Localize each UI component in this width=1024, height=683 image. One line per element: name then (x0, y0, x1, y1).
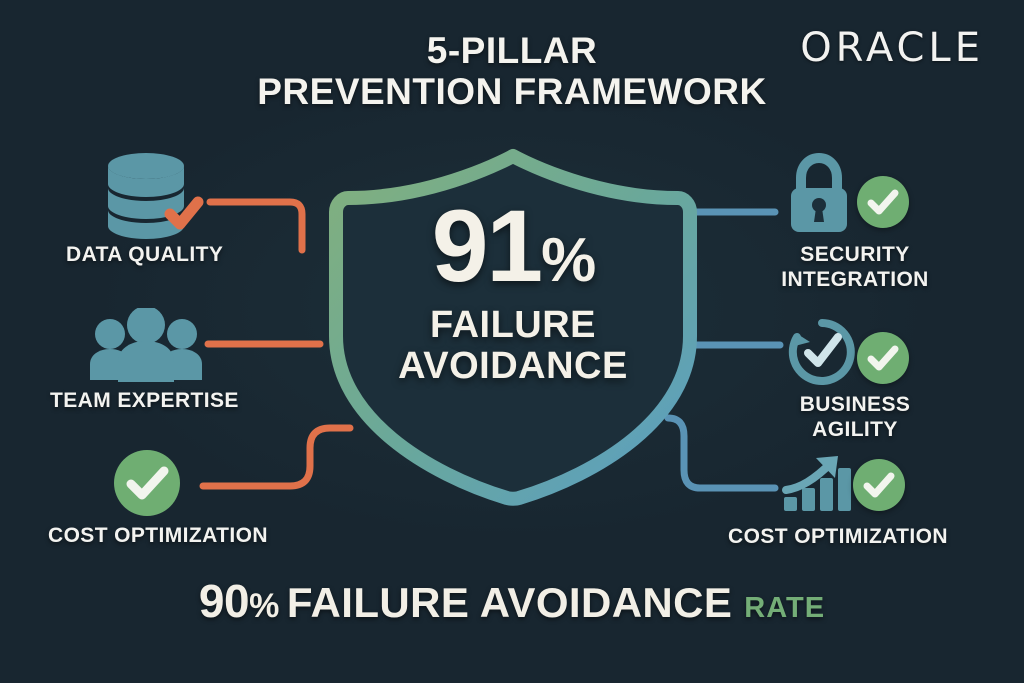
security-label-line-1: SECURITY (740, 243, 970, 268)
check-badge-security (857, 176, 909, 228)
footer-percent: 90% (199, 575, 279, 627)
infographic-canvas: ORACLE 5-PILLAR PREVENTION FRAMEWORK (0, 0, 1024, 683)
footer-percent-value: 90 (199, 575, 249, 627)
pillar-label-data-quality: DATA QUALITY (66, 243, 223, 268)
oracle-logo: ORACLE (800, 28, 984, 68)
pillar-label-team-expertise: TEAM EXPERTISE (50, 389, 239, 414)
database-check-icon (98, 150, 208, 250)
agility-label-line-2: AGILITY (740, 418, 970, 443)
shield-graphic (318, 140, 708, 510)
security-label-line-2: INTEGRATION (740, 268, 970, 293)
pillar-label-business-agility: BUSINESS AGILITY (740, 393, 970, 443)
shield-icon (318, 140, 708, 510)
connector-data-quality (210, 202, 302, 250)
pillar-label-cost-optimization-left: COST OPTIMIZATION (48, 524, 268, 549)
agility-label-line-1: BUSINESS (740, 393, 970, 418)
check-badge-cost (853, 459, 905, 511)
footer-percent-unit: % (249, 587, 279, 625)
check-circle-icon (112, 448, 182, 523)
footer-suffix: RATE (744, 592, 825, 624)
pillar-label-cost-optimization-right: COST OPTIMIZATION (713, 525, 963, 550)
pillar-label-security-integration: SECURITY INTEGRATION (740, 243, 970, 293)
footer-headline: FAILURE AVOIDANCE (287, 579, 732, 626)
bar-chart-growth-icon (780, 452, 856, 519)
footer-stat: 90%FAILURE AVOIDANCERATE (0, 574, 1024, 628)
oracle-wordmark-text: ORACLE (800, 25, 984, 71)
refresh-check-icon (785, 315, 859, 394)
lock-icon (783, 152, 855, 239)
people-group-icon (88, 308, 204, 393)
title-line-2: PREVENTION FRAMEWORK (0, 71, 1024, 112)
check-badge-agility (857, 332, 909, 384)
